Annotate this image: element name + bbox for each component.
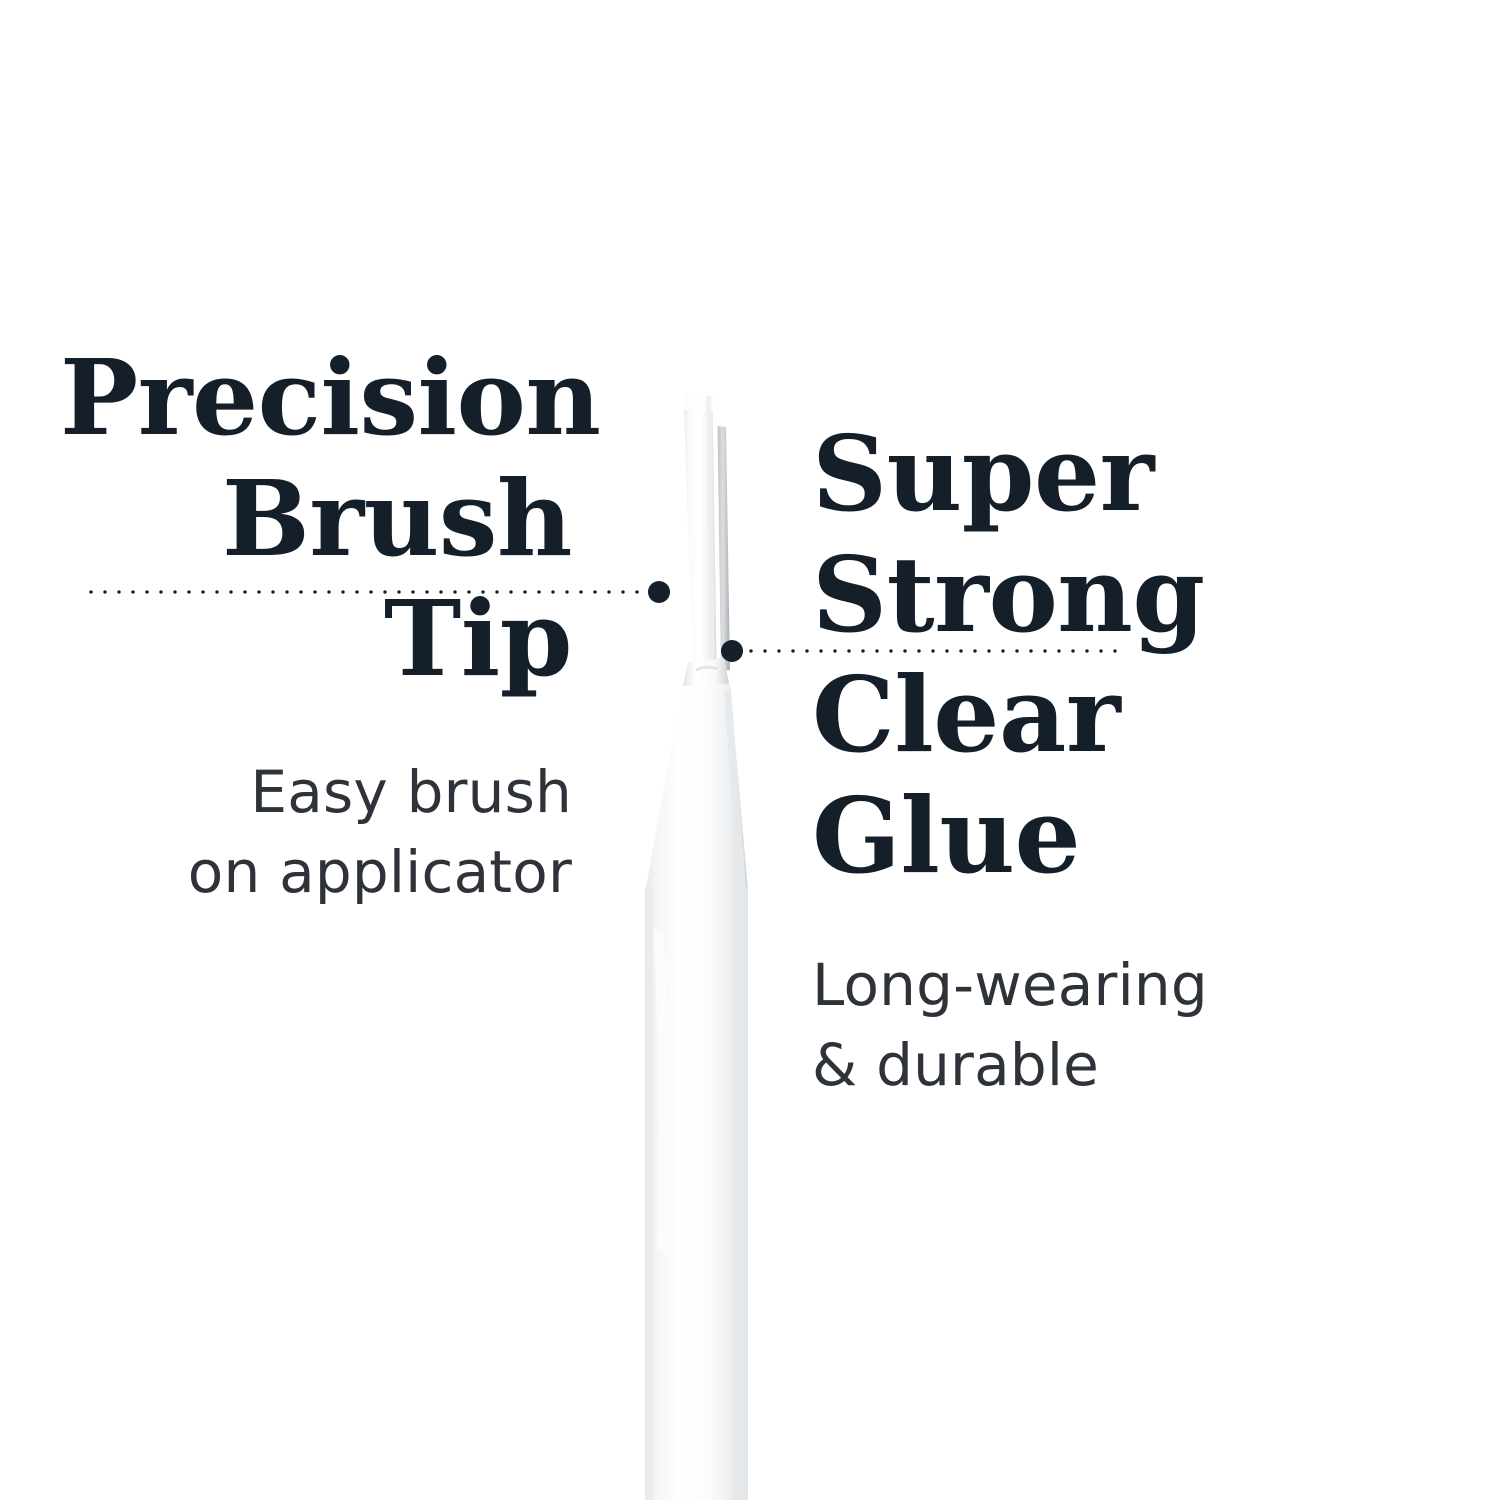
applicator-handle [645,888,748,1500]
leader-dot-left [648,581,670,603]
brush-tip-shaft [684,392,717,666]
product-feature-infographic: Precision Brush Tip Easy brush on applic… [0,0,1500,1500]
callout-super-strong-clear-glue: Super Strong Clear Glue Long-wearing & d… [812,414,1412,1105]
callout-left-title: Precision Brush Tip [60,338,572,700]
callout-right-title: Super Strong Clear Glue [812,414,1412,897]
leader-dot-right [721,640,743,662]
product-image-brush-applicator [600,370,820,1500]
callout-precision-brush-tip: Precision Brush Tip Easy brush on applic… [60,338,572,912]
callout-left-body: Easy brush on applicator [60,752,572,912]
brush-bristle-flange [718,426,731,671]
applicator-cone [645,684,748,894]
callout-right-body: Long-wearing & durable [812,945,1412,1105]
